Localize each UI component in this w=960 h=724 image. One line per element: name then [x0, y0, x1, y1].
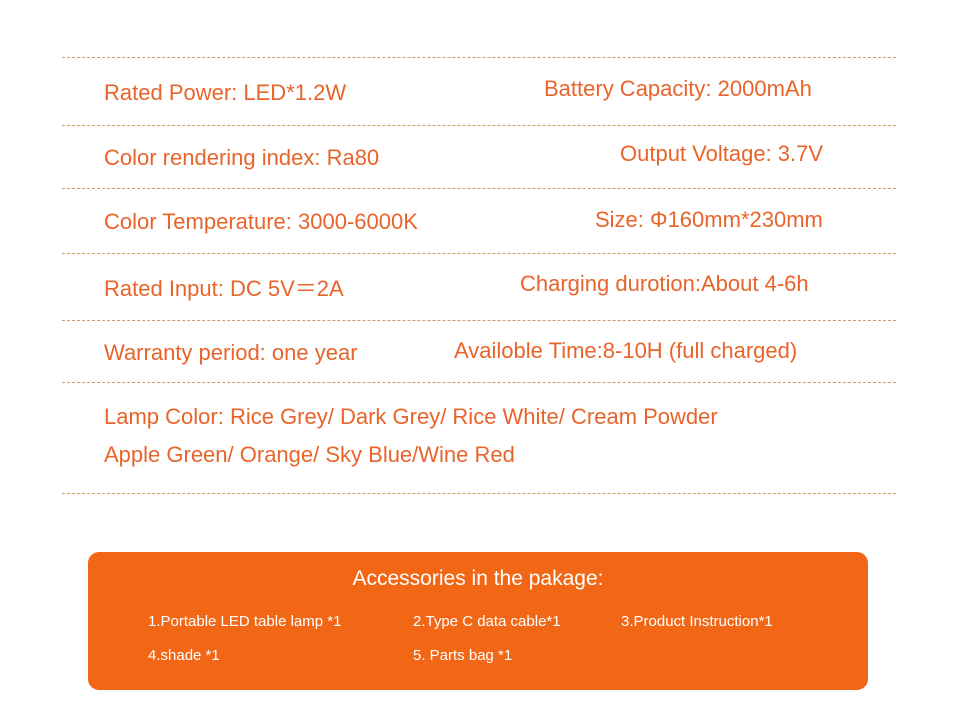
- spec-lamp-color-line1: Lamp Color: Rice Grey/ Dark Grey/ Rice W…: [104, 404, 718, 430]
- accessories-panel: Accessories in the pakage: 1.Portable LE…: [88, 552, 868, 690]
- spec-rated-input: Rated Input: DC 5V＝2A: [104, 276, 344, 302]
- spec-size: Size: Φ160mm*230mm: [595, 207, 823, 233]
- spec-row: Rated Power: LED*1.2W Battery Capacity: …: [62, 57, 896, 125]
- spec-color-rendering-index: Color rendering index: Ra80: [104, 145, 379, 171]
- spec-row-lamp-color: Lamp Color: Rice Grey/ Dark Grey/ Rice W…: [62, 382, 896, 494]
- spec-warranty-period: Warranty period: one year: [104, 340, 358, 366]
- list-item: 3.Product Instruction*1: [621, 612, 773, 632]
- spec-color-temperature: Color Temperature: 3000-6000K: [104, 209, 418, 235]
- list-item: 2.Type C data cable*1: [413, 612, 561, 632]
- spec-row: Color rendering index: Ra80 Output Volta…: [62, 125, 896, 188]
- spec-row: Rated Input: DC 5V＝2A Charging durotion:…: [62, 253, 896, 320]
- spec-charging-duration: Charging durotion:About 4-6h: [520, 271, 809, 297]
- accessories-title: Accessories in the pakage:: [88, 566, 868, 592]
- accessories-list: 1.Portable LED table lamp *1 2.Type C da…: [88, 612, 868, 684]
- spec-lamp-color-line2: Apple Green/ Orange/ Sky Blue/Wine Red: [104, 442, 515, 468]
- list-item: 4.shade *1: [148, 646, 220, 666]
- spec-row: Color Temperature: 3000-6000K Size: Φ160…: [62, 188, 896, 253]
- spec-output-voltage: Output Voltage: 3.7V: [620, 141, 823, 167]
- spec-battery-capacity: Battery Capacity: 2000mAh: [544, 76, 812, 102]
- specification-table: Rated Power: LED*1.2W Battery Capacity: …: [62, 57, 896, 494]
- spec-row: Warranty period: one year Availoble Time…: [62, 320, 896, 382]
- spec-rated-power: Rated Power: LED*1.2W: [104, 80, 346, 106]
- list-item: 5. Parts bag *1: [413, 646, 512, 666]
- spec-available-time: Availoble Time:8-10H (full charged): [454, 338, 797, 364]
- list-item: 1.Portable LED table lamp *1: [148, 612, 341, 632]
- product-spec-sheet: Rated Power: LED*1.2W Battery Capacity: …: [0, 0, 960, 724]
